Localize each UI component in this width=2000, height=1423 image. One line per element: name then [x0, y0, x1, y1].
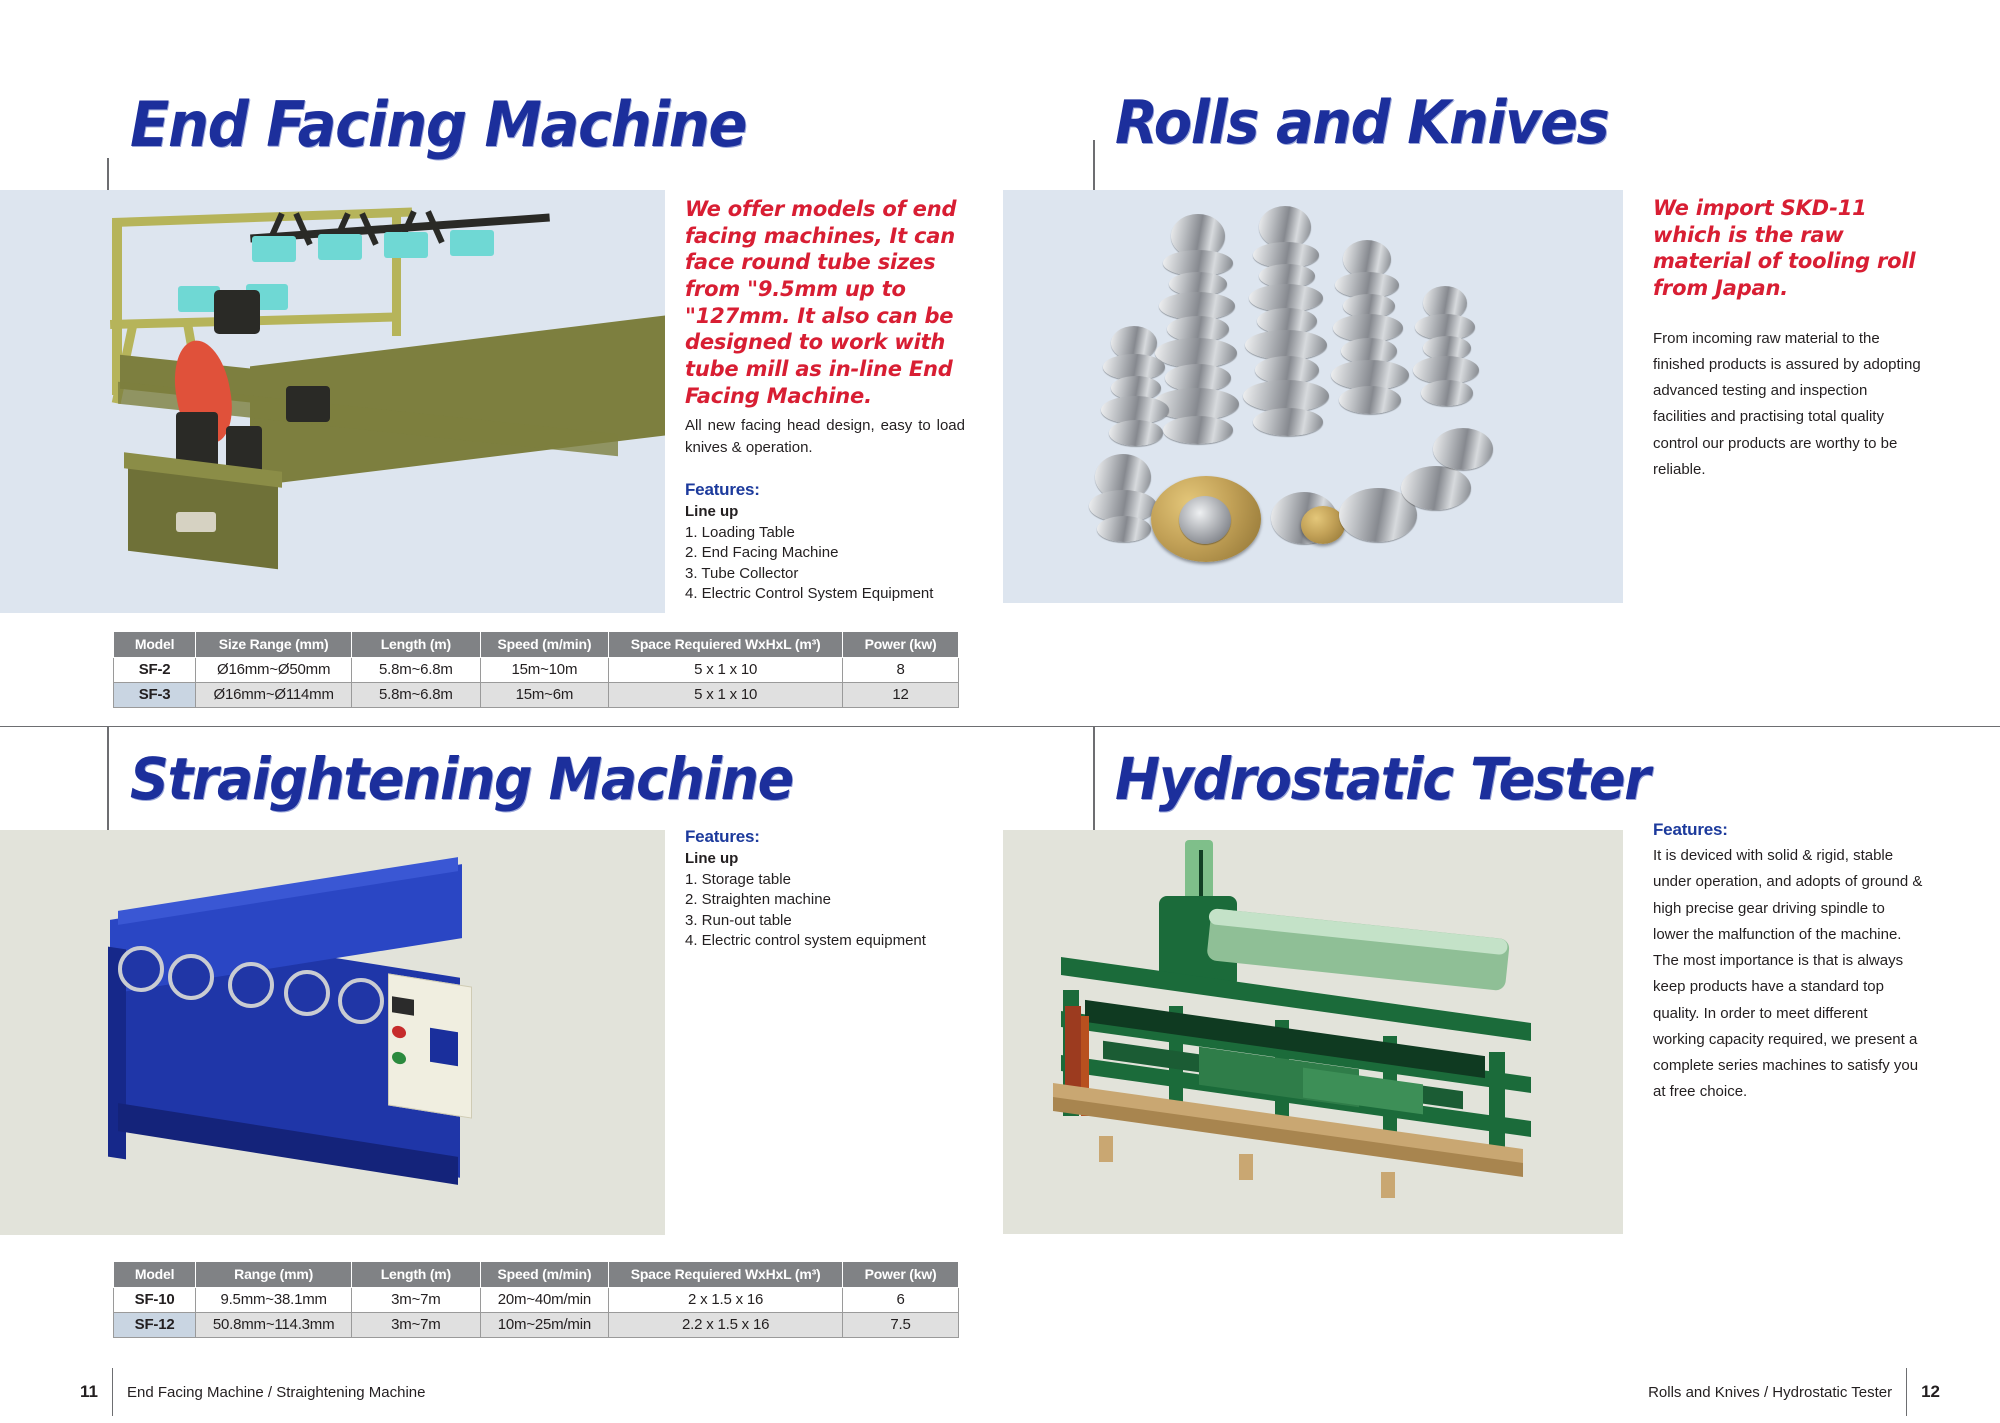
lineup-label-straightening: Line up: [685, 850, 965, 867]
brochure-spread: End Facing Machine: [0, 0, 2000, 1423]
photo-end-facing-machine: [0, 190, 665, 613]
column-header: Range (mm): [196, 1262, 352, 1288]
table-cell-model: SF-2: [114, 658, 196, 683]
table-cell: 5 x 1 x 10: [609, 683, 843, 708]
lineup-label-end-facing: Line up: [685, 503, 965, 520]
table-cell: Ø16mm~Ø114mm: [196, 683, 352, 708]
body-paragraph-hydrostatic: It is deviced with solid & rigid, stable…: [1653, 843, 1923, 1106]
table-cell-model: SF-3: [114, 683, 196, 708]
table-cell: 6: [843, 1288, 959, 1313]
column-header: Power (kw): [843, 632, 959, 658]
table-cell: 12: [843, 683, 959, 708]
table-cell: 3m~7m: [352, 1288, 481, 1313]
list-item: 1. Storage table: [685, 870, 965, 890]
table-cell: 15m~10m: [480, 658, 609, 683]
footer-right: Rolls and Knives / Hydrostatic Tester 12: [1240, 1361, 1940, 1423]
table-cell-model: SF-10: [114, 1288, 196, 1313]
column-header: Space Requiered WxHxL (m³): [609, 632, 843, 658]
table-cell-model: SF-12: [114, 1313, 196, 1338]
column-header: Space Requiered WxHxL (m³): [609, 1262, 843, 1288]
page-title-straightening-machine: Straightening Machine: [130, 745, 793, 813]
title-vertical-rule-straightening: [107, 727, 109, 837]
table-row: SF-10 9.5mm~38.1mm 3m~7m 20m~40m/min 2 x…: [114, 1288, 959, 1313]
lineup-list-straightening: 1. Storage table 2. Straighten machine 3…: [685, 870, 965, 952]
text-column-rolls-knives: We import SKD-11 which is the raw materi…: [1653, 195, 1923, 483]
footer-divider: [1906, 1368, 1907, 1416]
column-header: Power (kw): [843, 1262, 959, 1288]
table-header-row: Model Range (mm) Length (m) Speed (m/min…: [114, 1262, 959, 1288]
column-header: Model: [114, 632, 196, 658]
list-item: 3. Tube Collector: [685, 564, 965, 584]
table-cell: 20m~40m/min: [480, 1288, 609, 1313]
features-heading-hydrostatic: Features:: [1653, 820, 1923, 840]
features-heading-end-facing: Features:: [685, 480, 965, 500]
column-header: Speed (m/min): [480, 632, 609, 658]
photo-hydrostatic-tester: [1003, 830, 1623, 1234]
table-cell: 5.8m~6.8m: [352, 658, 481, 683]
table-cell: 5 x 1 x 10: [609, 658, 843, 683]
table-row: SF-12 50.8mm~114.3mm 3m~7m 10m~25m/min 2…: [114, 1313, 959, 1338]
table-cell: 5.8m~6.8m: [352, 683, 481, 708]
text-column-end-facing: We offer models of end facing machines, …: [685, 196, 965, 604]
list-item: 4. Electric Control System Equipment: [685, 584, 965, 604]
text-column-straightening: Features: Line up 1. Storage table 2. St…: [685, 827, 965, 952]
photo-straightening-machine: [0, 830, 665, 1235]
footer-left: 11 End Facing Machine / Straightening Ma…: [80, 1361, 780, 1423]
table-cell: 8: [843, 658, 959, 683]
table-header-row: Model Size Range (mm) Length (m) Speed (…: [114, 632, 959, 658]
page-title-end-facing-machine: End Facing Machine: [130, 88, 746, 161]
table-cell: 15m~6m: [480, 683, 609, 708]
page-left: End Facing Machine: [0, 0, 1003, 1423]
body-paragraph-end-facing: All new facing head design, easy to load…: [685, 415, 965, 458]
table-row: SF-2 Ø16mm~Ø50mm 5.8m~6.8m 15m~10m 5 x 1…: [114, 658, 959, 683]
page-number-right: 12: [1921, 1382, 1940, 1402]
table-cell: Ø16mm~Ø50mm: [196, 658, 352, 683]
list-item: 3. Run-out table: [685, 911, 965, 931]
page-number-left: 11: [80, 1382, 98, 1402]
spec-table-straightening: Model Range (mm) Length (m) Speed (m/min…: [113, 1261, 959, 1338]
quadrant-divider-left: [0, 726, 1003, 727]
page-title-hydrostatic-tester: Hydrostatic Tester: [1115, 745, 1649, 813]
list-item: 1. Loading Table: [685, 523, 965, 543]
footer-divider: [112, 1368, 113, 1416]
footer-label-right: Rolls and Knives / Hydrostatic Tester: [1648, 1384, 1892, 1401]
body-paragraph-rolls-knives: From incoming raw material to the finish…: [1653, 326, 1923, 484]
table-cell: 7.5: [843, 1313, 959, 1338]
column-header: Length (m): [352, 1262, 481, 1288]
table-cell: 2.2 x 1.5 x 16: [609, 1313, 843, 1338]
column-header: Speed (m/min): [480, 1262, 609, 1288]
lead-paragraph-rolls-knives: We import SKD-11 which is the raw materi…: [1653, 195, 1923, 302]
table-cell: 3m~7m: [352, 1313, 481, 1338]
quadrant-divider-right: [1003, 726, 2000, 727]
photo-rolls-and-knives: [1003, 190, 1623, 603]
page-title-rolls-and-knives: Rolls and Knives: [1115, 88, 1608, 158]
table-cell: 50.8mm~114.3mm: [196, 1313, 352, 1338]
table-cell: 10m~25m/min: [480, 1313, 609, 1338]
features-heading-straightening: Features:: [685, 827, 965, 847]
table-cell: 2 x 1.5 x 16: [609, 1288, 843, 1313]
column-header: Size Range (mm): [196, 632, 352, 658]
list-item: 2. Straighten machine: [685, 890, 965, 910]
spec-table-end-facing: Model Size Range (mm) Length (m) Speed (…: [113, 631, 959, 708]
footer-label-left: End Facing Machine / Straightening Machi…: [127, 1384, 426, 1401]
lineup-list-end-facing: 1. Loading Table 2. End Facing Machine 3…: [685, 523, 965, 605]
page-right: Rolls and Knives: [1003, 0, 2000, 1423]
column-header: Length (m): [352, 632, 481, 658]
list-item: 4. Electric control system equipment: [685, 931, 965, 951]
table-cell: 9.5mm~38.1mm: [196, 1288, 352, 1313]
column-header: Model: [114, 1262, 196, 1288]
table-row: SF-3 Ø16mm~Ø114mm 5.8m~6.8m 15m~6m 5 x 1…: [114, 683, 959, 708]
text-column-hydrostatic: Features: It is deviced with solid & rig…: [1653, 820, 1923, 1106]
list-item: 2. End Facing Machine: [685, 543, 965, 563]
title-vertical-rule-hydrostatic: [1093, 727, 1095, 845]
lead-paragraph-end-facing: We offer models of end facing machines, …: [685, 196, 965, 409]
